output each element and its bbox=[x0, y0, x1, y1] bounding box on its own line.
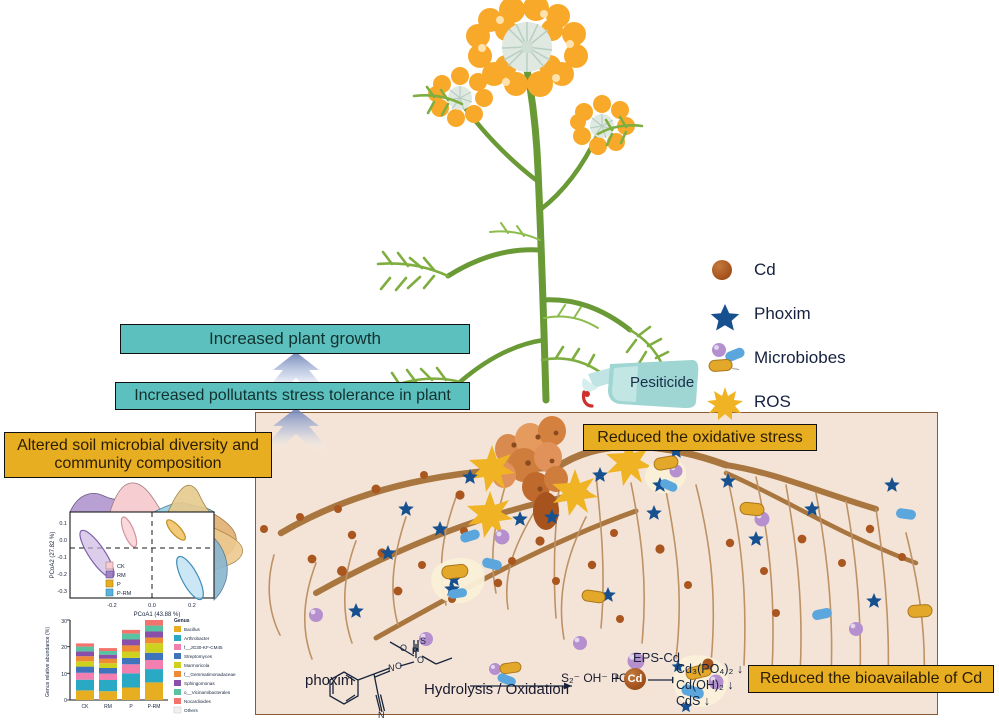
bar-P bbox=[122, 630, 140, 700]
bar-P-RM bbox=[145, 620, 163, 700]
reaction-plus: + bbox=[612, 670, 620, 686]
product-2: CdS ↓ bbox=[676, 693, 743, 709]
callout-plant-growth: Increased plant growth bbox=[120, 324, 470, 354]
genus-abundance-chart: 010 2030 Genus relative abundance (%) bbox=[40, 612, 245, 718]
svg-text:-0.2: -0.2 bbox=[58, 572, 67, 578]
svg-text:Sphingomonas: Sphingomonas bbox=[184, 681, 215, 686]
callout-stress-tolerance-text: Increased pollutants stress tolerance in… bbox=[134, 387, 451, 405]
legend-item-phoxim: Phoxim bbox=[706, 292, 886, 336]
legend-item-ros: ROS bbox=[706, 380, 886, 424]
svg-text:f__JG30-KF-CM45: f__JG30-KF-CM45 bbox=[184, 645, 223, 650]
bar-CK bbox=[76, 643, 94, 700]
callout-plant-growth-text: Increased plant growth bbox=[209, 329, 381, 348]
svg-text:CK: CK bbox=[82, 704, 90, 710]
svg-text:P-RM: P-RM bbox=[117, 591, 132, 597]
callout-stress-tolerance: Increased pollutants stress tolerance in… bbox=[115, 382, 470, 410]
callout-bioavailable-cd: Reduced the bioavailable of Cd bbox=[748, 665, 994, 693]
bar-ylabel: Genus relative abundance (%) bbox=[45, 627, 51, 697]
legend-label-ros: ROS bbox=[754, 392, 791, 412]
svg-text:Nocardioides: Nocardioides bbox=[184, 699, 212, 704]
legend-label-microbiobes: Microbiobes bbox=[754, 348, 846, 368]
svg-text:Others: Others bbox=[184, 708, 198, 713]
callout-soil-diversity: Altered soil microbial diversity and com… bbox=[4, 432, 272, 478]
svg-text:0.1: 0.1 bbox=[59, 521, 67, 527]
legend-label-cd: Cd bbox=[754, 260, 776, 280]
pcoa-chart: 0.1 0.0 -0.1 -0.2 -0.3 -0.2 0.0 0.2 PCoA… bbox=[42, 478, 264, 618]
callout-oxidative-stress-text: Reduced the oxidative stress bbox=[597, 429, 802, 447]
legend-item-cd: Cd bbox=[706, 248, 886, 292]
svg-text:Bacillus: Bacillus bbox=[184, 627, 201, 632]
legend-item-microbiobes: Microbiobes bbox=[706, 336, 886, 380]
reaction-products: Cd₃(PO₄)₂ ↓ Cd(OH)₂ ↓ CdS ↓ bbox=[676, 661, 743, 709]
svg-text:N: N bbox=[378, 710, 385, 720]
svg-text:N: N bbox=[388, 663, 395, 673]
ros-burst-icon bbox=[706, 385, 746, 419]
pcoa-ylabel: PCoA2 (27.82 %) bbox=[50, 532, 56, 579]
cd-dot-icon bbox=[706, 253, 746, 287]
microbe-icon bbox=[706, 341, 746, 375]
svg-text:S: S bbox=[420, 636, 426, 646]
callout-bioavailable-cd-text: Reduced the bioavailable of Cd bbox=[760, 670, 982, 688]
svg-text:0.0: 0.0 bbox=[59, 538, 67, 544]
reaction-arrow-label: Hydrolysis / Oxidation bbox=[424, 681, 569, 698]
product-0: Cd₃(PO₄)₂ ↓ bbox=[676, 661, 743, 677]
svg-text:O: O bbox=[395, 661, 402, 671]
svg-text:f__Gemmatimonadaceae: f__Gemmatimonadaceae bbox=[184, 672, 236, 677]
callout-soil-diversity-line2: community composition bbox=[54, 455, 221, 473]
genus-legend: Genus Bacillus Arthrobacter f__JG30-KF-C… bbox=[174, 618, 236, 713]
svg-text:P: P bbox=[117, 582, 121, 588]
pcoa-right-density bbox=[214, 514, 243, 600]
svg-text:30: 30 bbox=[61, 619, 67, 625]
svg-text:0: 0 bbox=[64, 698, 67, 704]
pcoa-top-density bbox=[70, 483, 214, 512]
spray-bottle-label: Pesiticide bbox=[630, 374, 694, 391]
svg-text:O: O bbox=[417, 655, 424, 665]
svg-text:-0.1: -0.1 bbox=[58, 555, 67, 561]
phoxim-star-icon bbox=[706, 297, 746, 331]
foliage bbox=[378, 87, 668, 402]
svg-text:20: 20 bbox=[61, 645, 67, 651]
cd-badge: Cd bbox=[624, 668, 646, 690]
legend: Cd Phoxim Microbiobes bbox=[706, 248, 886, 424]
svg-text:Marmoricola: Marmoricola bbox=[184, 663, 210, 668]
eps-cd-label: EPS-Cd bbox=[633, 650, 680, 665]
svg-text:P: P bbox=[129, 704, 133, 710]
svg-text:-0.2: -0.2 bbox=[107, 603, 116, 609]
svg-text:P-RM: P-RM bbox=[148, 704, 161, 710]
svg-text:-0.3: -0.3 bbox=[58, 589, 67, 595]
bar-RM bbox=[99, 648, 117, 700]
svg-text:o__Vicinamibacterales: o__Vicinamibacterales bbox=[184, 690, 231, 695]
callout-oxidative-stress: Reduced the oxidative stress bbox=[583, 424, 817, 451]
svg-text:Streptomyces: Streptomyces bbox=[184, 654, 213, 659]
svg-text:O: O bbox=[400, 643, 407, 653]
svg-text:0.0: 0.0 bbox=[148, 603, 156, 609]
legend-label-phoxim: Phoxim bbox=[754, 304, 811, 324]
product-1: Cd(OH)₂ ↓ bbox=[676, 677, 743, 693]
svg-text:10: 10 bbox=[61, 672, 67, 678]
svg-text:RM: RM bbox=[117, 573, 126, 579]
svg-text:RM: RM bbox=[104, 704, 112, 710]
svg-text:Genus: Genus bbox=[174, 618, 190, 624]
svg-text:0.2: 0.2 bbox=[188, 603, 196, 609]
svg-text:Arthrobacter: Arthrobacter bbox=[184, 636, 210, 641]
callout-soil-diversity-line1: Altered soil microbial diversity and bbox=[17, 437, 259, 455]
svg-text:CK: CK bbox=[117, 564, 125, 570]
